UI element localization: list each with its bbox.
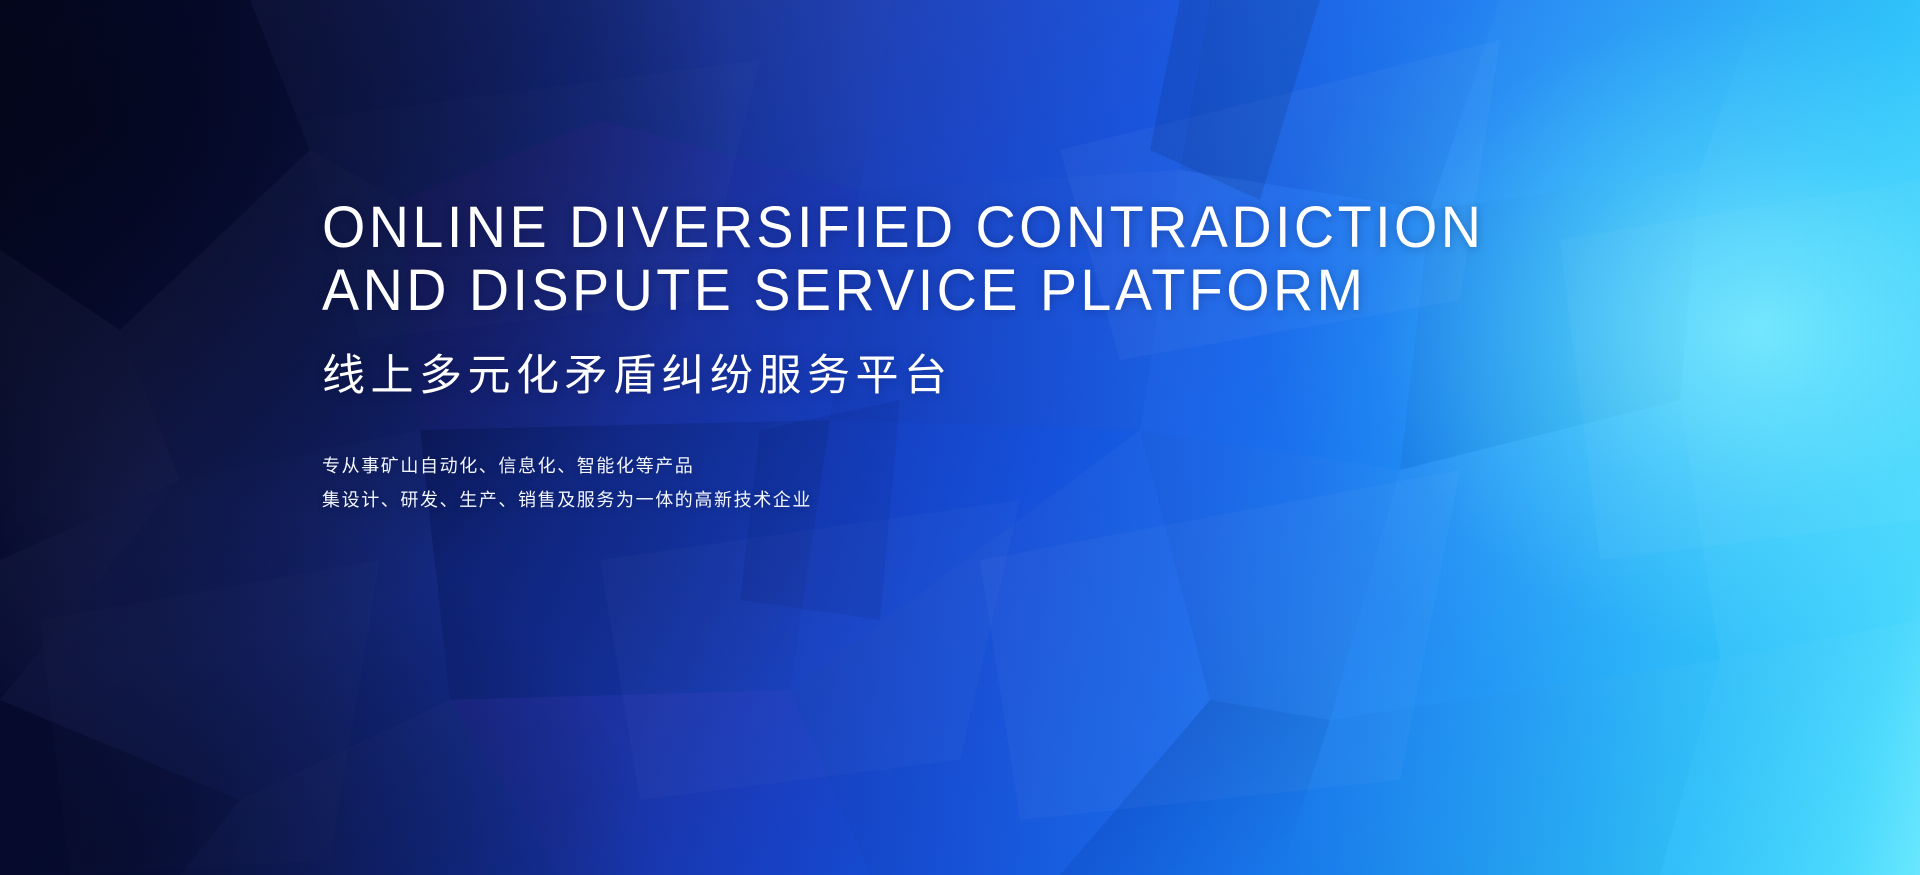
hero-banner: ONLINE DIVERSIFIED CONTRADICTION AND DIS… (0, 0, 1920, 875)
subtitle-list: 专从事矿山自动化、信息化、智能化等产品 集设计、研发、生产、销售及服务为一体的高… (322, 449, 1572, 517)
hero-text-block: ONLINE DIVERSIFIED CONTRADICTION AND DIS… (322, 196, 1572, 517)
headline-line-2: AND DISPUTE SERVICE PLATFORM (322, 259, 1522, 322)
subtitle-line-1: 专从事矿山自动化、信息化、智能化等产品 (322, 449, 1572, 483)
subtitle-line-2: 集设计、研发、生产、销售及服务为一体的高新技术企业 (322, 483, 1572, 517)
headline-line-1: ONLINE DIVERSIFIED CONTRADICTION (322, 196, 1522, 259)
chinese-title: 线上多元化矛盾纠纷服务平台 (322, 351, 1572, 401)
